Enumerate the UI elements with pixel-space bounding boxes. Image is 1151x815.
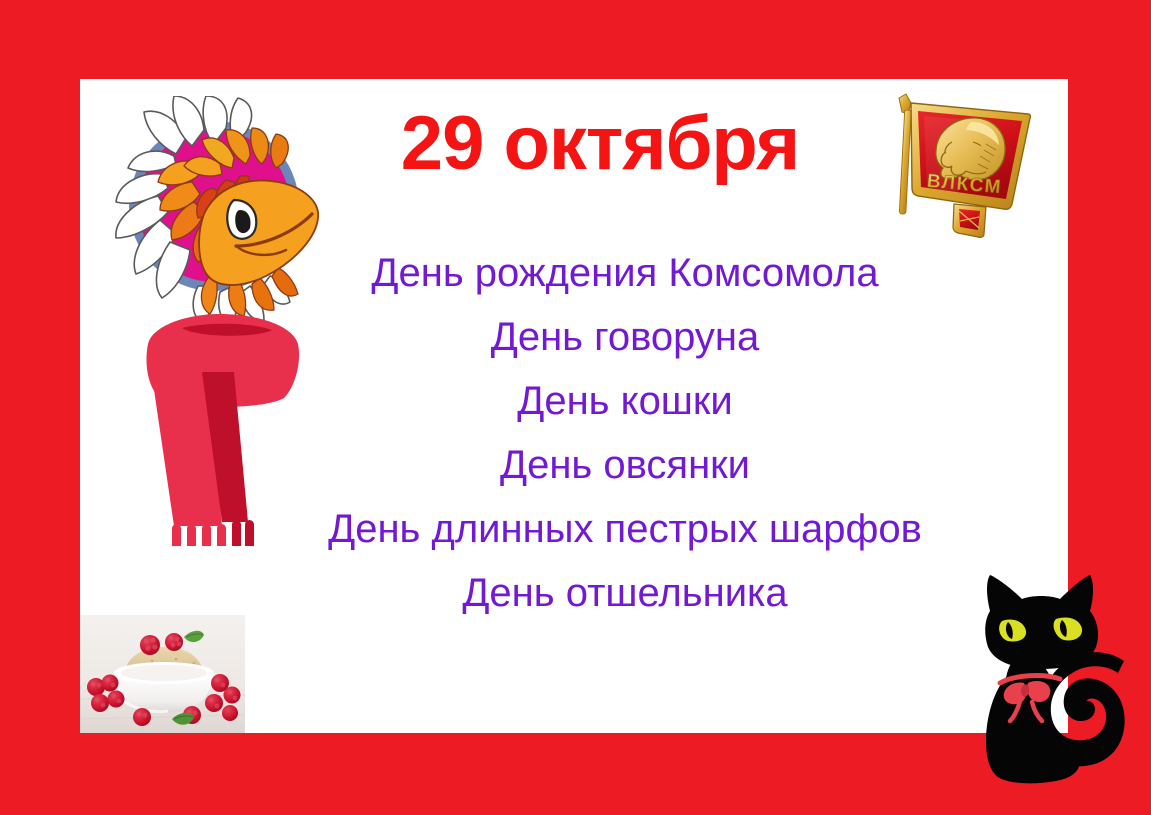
holiday-item-5: День длинных пестрых шарфов [280, 497, 970, 561]
badge-flag-staff [899, 94, 911, 214]
holiday-list: День рождения Комсомола День говоруна Де… [280, 241, 970, 625]
holiday-item-6: День отшельника [280, 561, 970, 625]
bird-scarf [147, 314, 300, 546]
komsomol-badge: ВЛКСМ [880, 80, 1052, 248]
badge-lower-tab [953, 204, 986, 237]
holiday-item-2: День говоруна [280, 305, 970, 369]
oatmeal-bowl-photo [80, 615, 245, 733]
holiday-item-4: День овсянки [280, 433, 970, 497]
holiday-item-1: День рождения Комсомола [280, 241, 970, 305]
poster-canvas: 29 октября День рождения Комсомола День … [0, 0, 1151, 815]
black-cat-illustration [938, 565, 1138, 790]
poster-title: 29 октября [330, 106, 870, 182]
holiday-item-3: День кошки [280, 369, 970, 433]
